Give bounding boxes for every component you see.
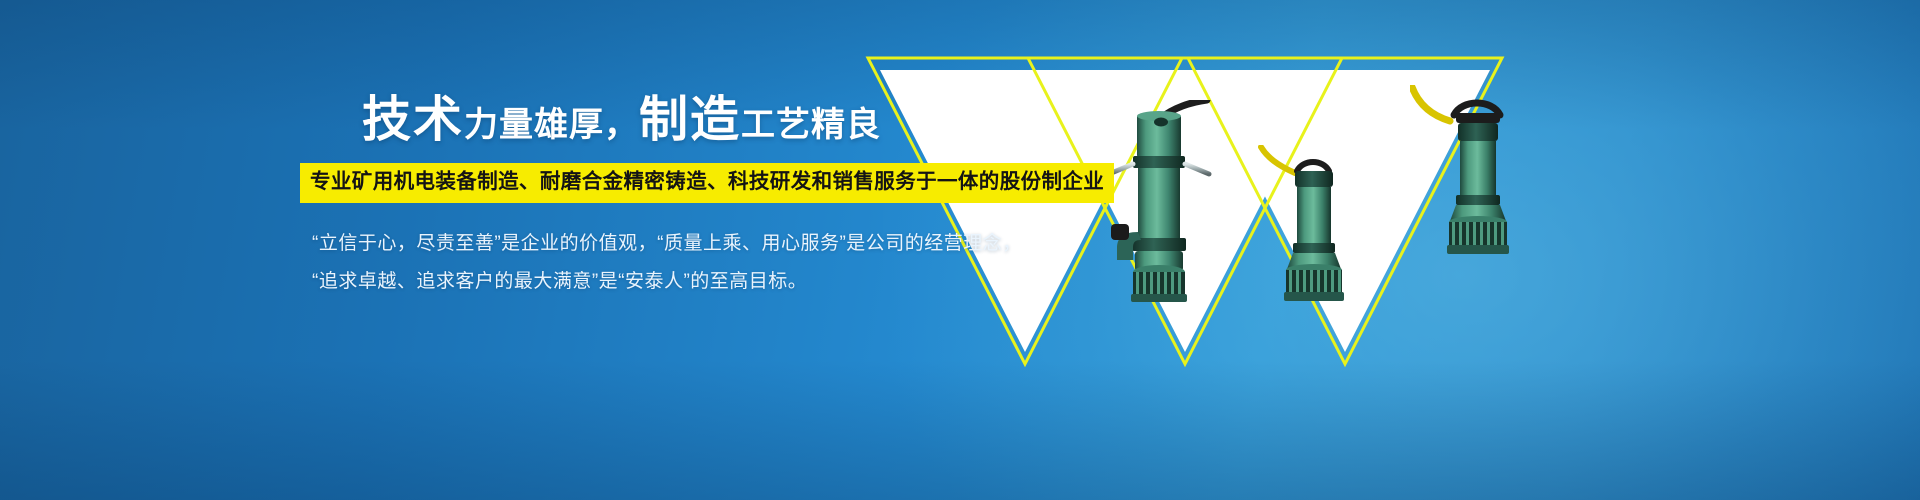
submersible-pump-right <box>1410 85 1545 260</box>
description-line-1: “立信于心，尽责至善”是企业的价值观，“质量上乘、用心服务”是公司的经营理念， <box>312 225 920 263</box>
hero-banner: 技术力量雄厚，制造工艺精良 专业矿用机电装备制造、耐磨合金精密铸造、科技研发和销… <box>0 0 1920 500</box>
banner-description: “立信于心，尽责至善”是企业的价值观，“质量上乘、用心服务”是公司的经营理念， … <box>312 225 920 301</box>
headline-segment-4: 工艺精良 <box>741 106 881 144</box>
submersible-pump-center <box>1255 145 1375 310</box>
headline-segment-1: 技术 <box>362 93 464 147</box>
banner-text-block: 技术力量雄厚，制造工艺精良 专业矿用机电装备制造、耐磨合金精密铸造、科技研发和销… <box>300 96 920 301</box>
headline-segment-3: 制造 <box>639 93 741 147</box>
page-title: 技术力量雄厚，制造工艺精良 <box>362 96 920 151</box>
description-line-2: “追求卓越、追求客户的最大满意”是“安泰人”的至高目标。 <box>312 263 920 301</box>
headline-segment-2: 力量雄厚， <box>464 106 639 144</box>
highlight-tagline-bar: 专业矿用机电装备制造、耐磨合金精密铸造、科技研发和销售服务于一体的股份制企业 <box>300 163 1114 203</box>
submersible-pump-left <box>1095 100 1225 305</box>
